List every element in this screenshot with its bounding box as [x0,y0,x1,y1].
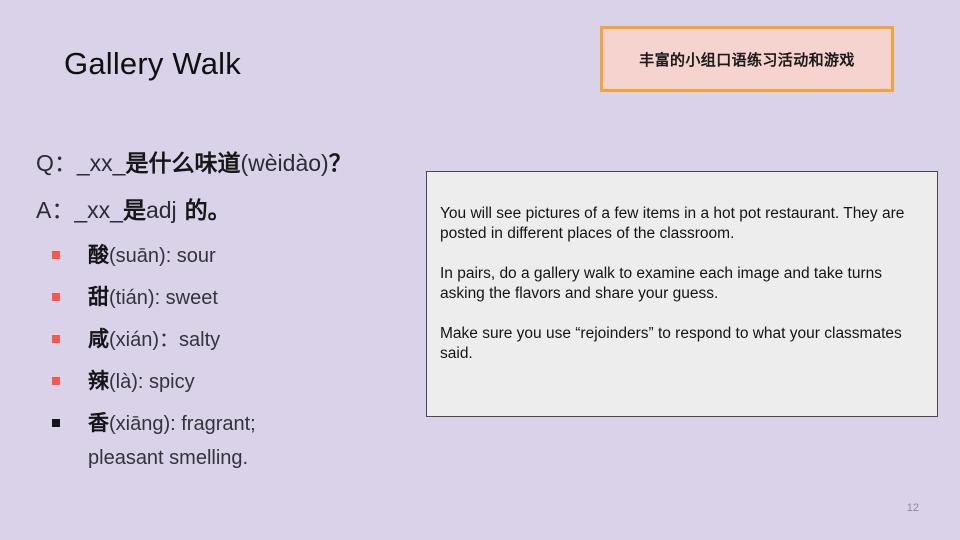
list-item-hanzi: 酸 [88,243,109,267]
answer-adj: adj [146,197,177,223]
answer-blank: _xx_ [74,197,123,223]
question-mark: ？ [329,151,352,177]
answer-hanzi-shi: 是 [123,198,146,224]
question-prefix: Q： [36,150,77,176]
list-item-hanzi: 咸 [88,327,109,351]
flavor-list: 酸(suān): sour甜(tián): sweet咸(xián)：salty… [52,240,412,484]
question-blank: _xx_ [77,150,126,176]
list-item-gloss: (suān): sour [109,245,216,267]
list-item-label: 辣(là): spicy [88,366,195,397]
bullet-icon [52,251,60,259]
page-number: 12 [907,502,919,514]
instruction-paragraph: You will see pictures of a few items in … [440,204,924,244]
answer-prefix: A： [36,197,74,223]
qa-block: Q：_xx_是什么味道(wèidào)？ A：_xx_是adj 的。 [36,140,436,234]
list-item-hanzi: 甜 [88,285,109,309]
instructions-panel: You will see pictures of a few items in … [426,171,938,417]
bullet-icon [52,377,60,385]
list-item-label: 酸(suān): sour [88,240,216,271]
bullet-icon [52,419,60,427]
list-item-gloss: (là): spicy [109,371,195,393]
question-pinyin: (wèidào) [240,150,328,176]
list-item-gloss-continued: pleasant smelling. [88,443,256,473]
instruction-paragraph: Make sure you use “rejoinders” to respon… [440,324,924,364]
instruction-paragraph: In pairs, do a gallery walk to examine e… [440,264,924,304]
answer-line: A：_xx_是adj 的。 [36,187,436,234]
list-item-gloss: (xián)：salty [109,329,220,351]
callout-box: 丰富的小组口语练习活动和游戏 [600,26,894,92]
list-item: 香(xiāng): fragrant;pleasant smelling. [52,408,412,473]
bullet-icon [52,293,60,301]
page-title: Gallery Walk [64,44,241,84]
list-item: 甜(tián): sweet [52,282,412,313]
bullet-icon [52,335,60,343]
question-line: Q：_xx_是什么味道(wèidào)？ [36,140,436,187]
list-item: 酸(suān): sour [52,240,412,271]
list-item-label: 甜(tián): sweet [88,282,218,313]
list-item-hanzi: 香 [88,411,109,435]
list-item: 咸(xián)：salty [52,324,412,355]
list-item-label: 咸(xián)：salty [88,324,220,355]
callout-text: 丰富的小组口语练习活动和游戏 [639,49,855,70]
list-item-label: 香(xiāng): fragrant;pleasant smelling. [88,408,256,473]
slide-canvas: Gallery Walk 丰富的小组口语练习活动和游戏 Q：_xx_是什么味道(… [0,0,960,540]
list-item: 辣(là): spicy [52,366,412,397]
list-item-hanzi: 辣 [88,369,109,393]
list-item-gloss: (xiāng): fragrant; [109,413,256,435]
question-hanzi: 是什么味道 [125,151,240,177]
list-item-gloss: (tián): sweet [109,287,218,309]
answer-hanzi-de: 的。 [177,198,231,224]
